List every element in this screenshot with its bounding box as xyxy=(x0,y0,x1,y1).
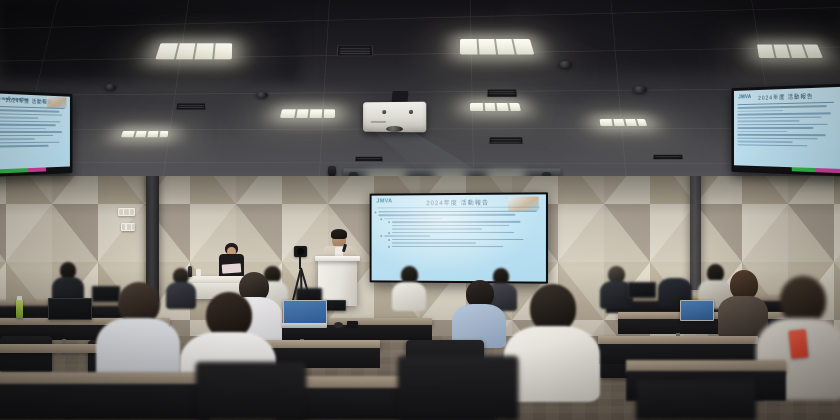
ceiling xyxy=(0,0,840,186)
podium xyxy=(318,259,357,306)
left-monitor-status-bar xyxy=(0,166,70,173)
left-monitor-screen: left-wall-monitor 2024年度 活動報告 xyxy=(0,93,70,174)
light-panel-2 xyxy=(460,39,534,54)
ceiling-vent-3 xyxy=(489,137,524,144)
projector-vent xyxy=(371,121,386,123)
status-green xyxy=(0,168,28,174)
chair-row3-left[interactable] xyxy=(0,336,52,372)
orange-card[interactable] xyxy=(789,329,809,359)
light-switch-panel-upper[interactable] xyxy=(118,208,135,216)
chair-foreground-far-right[interactable] xyxy=(636,380,756,420)
light-panel-6 xyxy=(600,119,648,126)
attendee-foreground-right-center xyxy=(504,284,600,396)
smoke-detector xyxy=(105,84,116,90)
projector-indicator xyxy=(382,110,386,114)
left-monitor-thumbnail xyxy=(47,97,67,108)
right-wall-monitor: JMVA 2024年度 活動報告 xyxy=(731,84,840,177)
status-dark xyxy=(46,166,70,171)
green-tea-bottle xyxy=(16,299,23,318)
right-monitor-status-bar xyxy=(734,165,840,173)
podium-top xyxy=(315,256,360,261)
ceiling-speaker-1 xyxy=(559,61,572,68)
ceiling-vent-2 xyxy=(487,89,518,97)
laptop-far-left[interactable] xyxy=(48,298,92,320)
chair-foreground-right[interactable] xyxy=(398,356,518,420)
ceiling-projector xyxy=(363,102,426,133)
light-panel-4 xyxy=(470,103,521,111)
attendee-torso xyxy=(392,282,426,311)
projector-sensor xyxy=(409,110,413,114)
laptop-right-blue[interactable] xyxy=(680,300,714,321)
mouse[interactable] xyxy=(334,322,343,328)
attendee-head xyxy=(780,276,826,324)
ceiling-vent-6 xyxy=(653,155,683,160)
ceiling-speaker-3 xyxy=(256,92,268,98)
status-green xyxy=(791,167,815,172)
ceiling-vent-1 xyxy=(337,45,374,56)
left-monitor-body xyxy=(0,106,67,150)
smartphone[interactable] xyxy=(347,321,358,327)
desk-foreground-left-front xyxy=(0,384,210,420)
attendee-torso xyxy=(504,326,600,402)
attendee-row2-right xyxy=(452,280,506,344)
light-panel-1 xyxy=(155,43,232,59)
right-monitor-title: 2024年度 活動報告 xyxy=(734,91,840,102)
light-panel-7 xyxy=(757,44,823,58)
slide-body-text xyxy=(378,211,538,250)
attendee-back-center-2 xyxy=(392,266,426,310)
light-panel-5 xyxy=(121,131,168,137)
bottle-cap xyxy=(17,296,22,300)
desk-row3-left xyxy=(0,344,108,353)
ceiling-speaker-2 xyxy=(633,86,647,93)
slide-inset-photo xyxy=(508,196,539,210)
conference-room-photo: left-wall-monitor 2024年度 活動報告 JMVA 2024年… xyxy=(0,0,840,420)
status-magenta xyxy=(816,168,840,173)
attendee-foreground-left xyxy=(96,282,180,382)
chair-foreground-left[interactable] xyxy=(196,362,306,420)
presenter-hair xyxy=(331,229,347,239)
camera-lens xyxy=(297,248,304,255)
left-wall-monitor: left-wall-monitor 2024年度 活動報告 xyxy=(0,90,72,177)
attendee-head xyxy=(530,284,576,332)
right-monitor-body xyxy=(737,102,837,149)
right-monitor-screen: JMVA 2024年度 活動報告 xyxy=(734,87,840,173)
light-panel-3 xyxy=(280,109,335,118)
status-magenta xyxy=(28,167,45,172)
stage-cup xyxy=(196,269,201,277)
status-dark-left xyxy=(734,165,791,171)
projector-lens xyxy=(386,126,403,132)
light-switch-panel-lower[interactable] xyxy=(121,223,135,231)
laptop-row1-right[interactable] xyxy=(628,282,656,298)
ceiling-vent-4 xyxy=(176,103,207,110)
ceiling-vent-5 xyxy=(355,157,383,162)
ceiling-tile-grid xyxy=(0,0,840,186)
laptop-keyboard[interactable] xyxy=(281,323,327,328)
